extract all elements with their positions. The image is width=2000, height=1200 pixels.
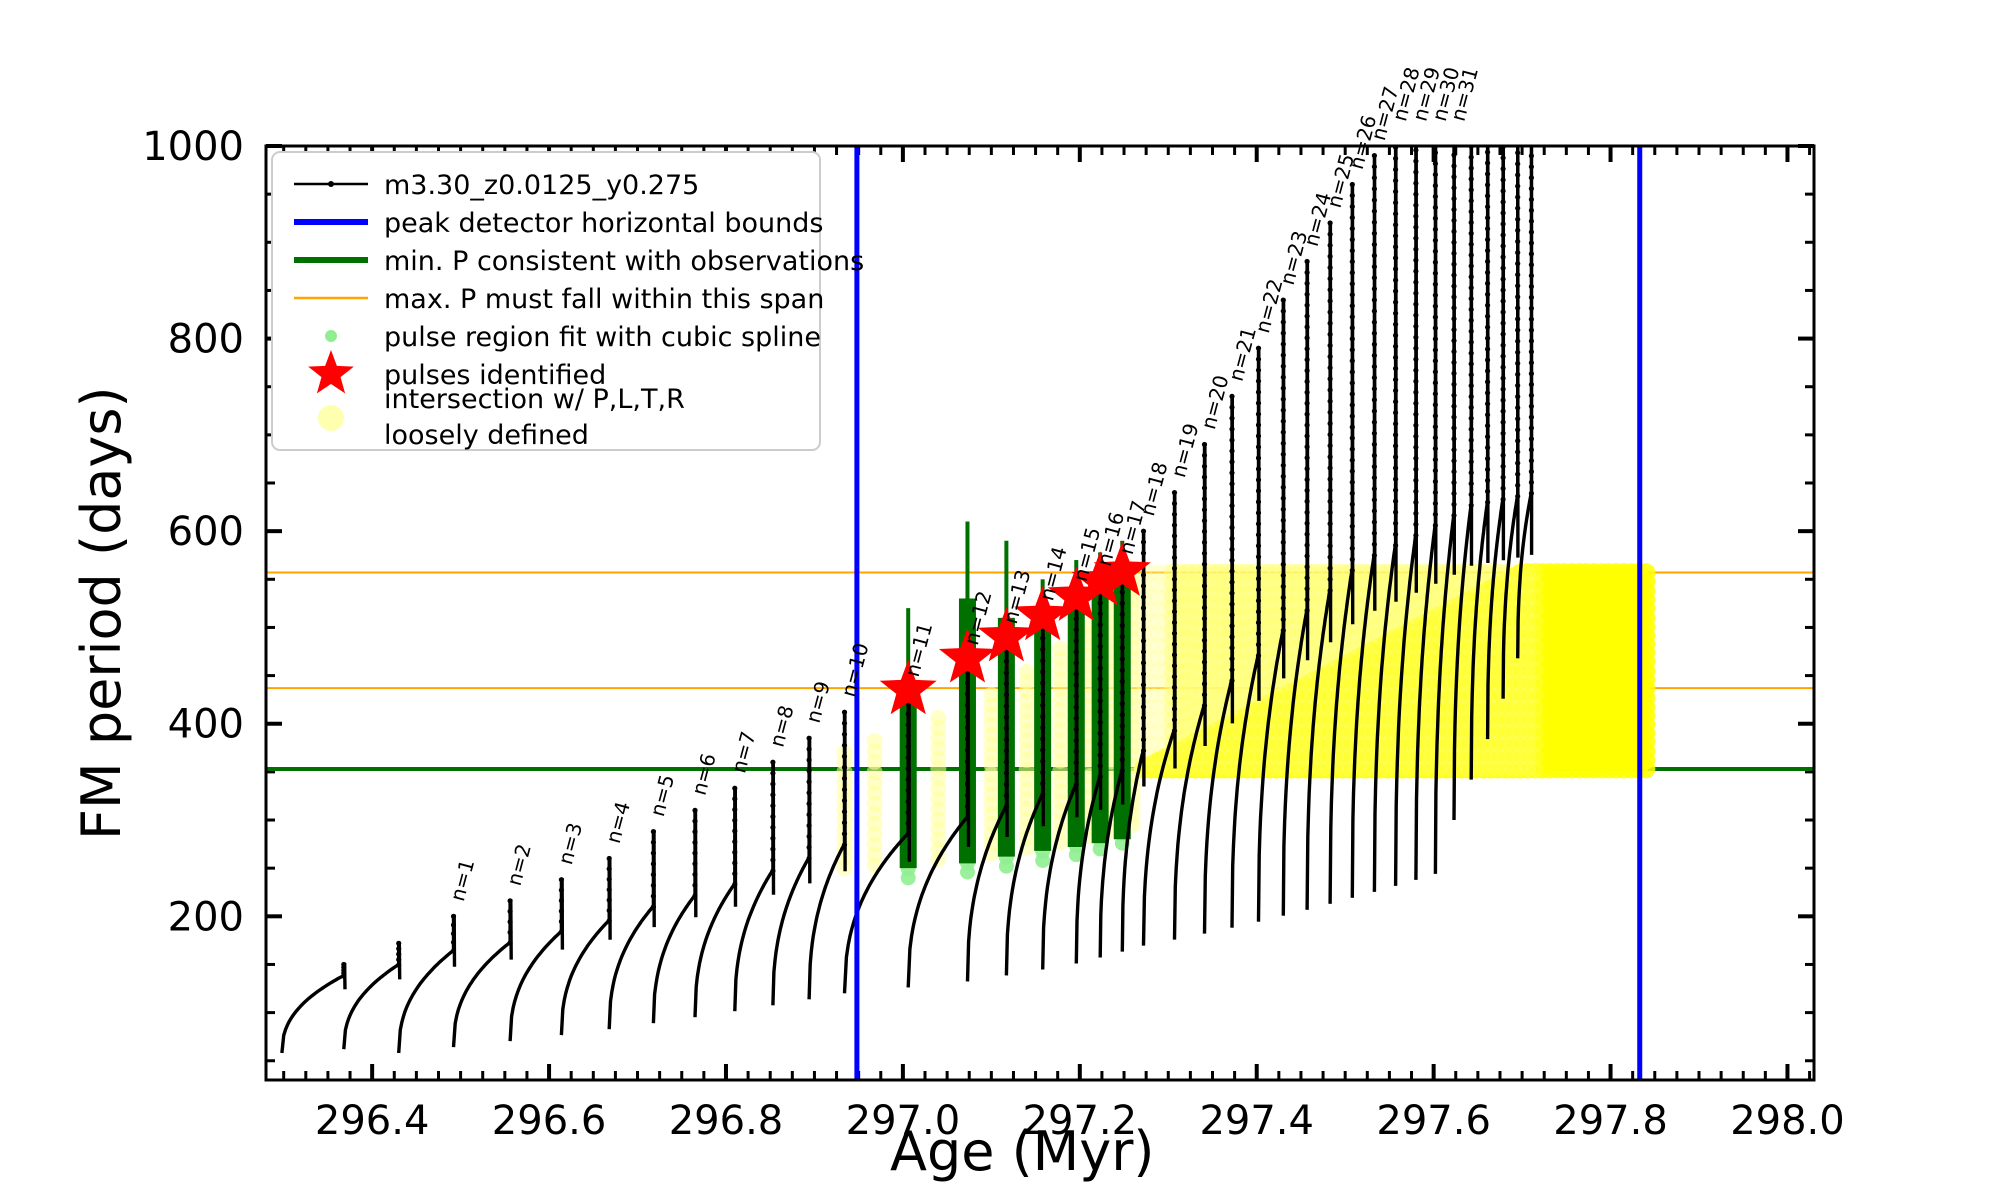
legend-item-label: pulse region fit with cubic spline <box>384 322 821 353</box>
y-axis-title: FM period (days) <box>70 386 133 840</box>
x-axis-title: Age (Myr) <box>890 1120 1155 1183</box>
legend-item-label: loosely defined <box>384 420 589 451</box>
pulse-index-label: n=11 <box>900 620 937 679</box>
pulse-index-label: n=19 <box>1166 421 1203 480</box>
pulse-index-label: n=20 <box>1196 373 1233 432</box>
pulse-index-label: n=1 <box>445 857 479 904</box>
pulse-index-label: n=5 <box>645 772 679 819</box>
pulse-index-label: n=6 <box>687 751 721 798</box>
svg-text:296.6: 296.6 <box>492 1098 607 1144</box>
legend-item-label: m3.30_z0.0125_y0.275 <box>384 170 699 201</box>
svg-text:297.6: 297.6 <box>1376 1098 1491 1144</box>
svg-text:800: 800 <box>168 317 244 363</box>
svg-text:298.0: 298.0 <box>1730 1098 1845 1144</box>
pulse-index-label: n=8 <box>765 703 799 750</box>
svg-text:600: 600 <box>168 509 244 555</box>
svg-text:400: 400 <box>168 702 244 748</box>
legend-item-label: min. P consistent with observations <box>384 246 864 277</box>
legend-item-label: peak detector horizontal bounds <box>384 208 823 239</box>
svg-text:200: 200 <box>168 894 244 940</box>
pulse-index-label: n=10 <box>836 640 873 699</box>
pulse-index-label: n=12 <box>959 588 996 647</box>
svg-text:296.8: 296.8 <box>669 1098 784 1144</box>
svg-text:297.4: 297.4 <box>1199 1098 1314 1144</box>
plot-canvas: 296.4296.6296.8297.0297.2297.4297.6297.8… <box>0 0 2000 1200</box>
legend-item-label: max. P must fall within this span <box>384 284 824 315</box>
pulse-index-label: n=21 <box>1224 324 1261 383</box>
figure-root: FM period (days) Age (Myr) 296.4296.6296… <box>0 0 2000 1200</box>
legend[interactable]: m3.30_z0.0125_y0.275peak detector horizo… <box>272 152 864 451</box>
svg-text:1000: 1000 <box>142 124 244 170</box>
pulse-index-label: n=9 <box>801 679 835 726</box>
svg-text:297.8: 297.8 <box>1553 1098 1668 1144</box>
legend-item-label: intersection w/ P,L,T,R <box>384 384 685 415</box>
pulse-index-label: n=4 <box>601 799 635 846</box>
svg-text:296.4: 296.4 <box>315 1098 430 1144</box>
pulse-index-label: n=3 <box>553 820 587 867</box>
pulse-index-label: n=2 <box>502 841 536 888</box>
